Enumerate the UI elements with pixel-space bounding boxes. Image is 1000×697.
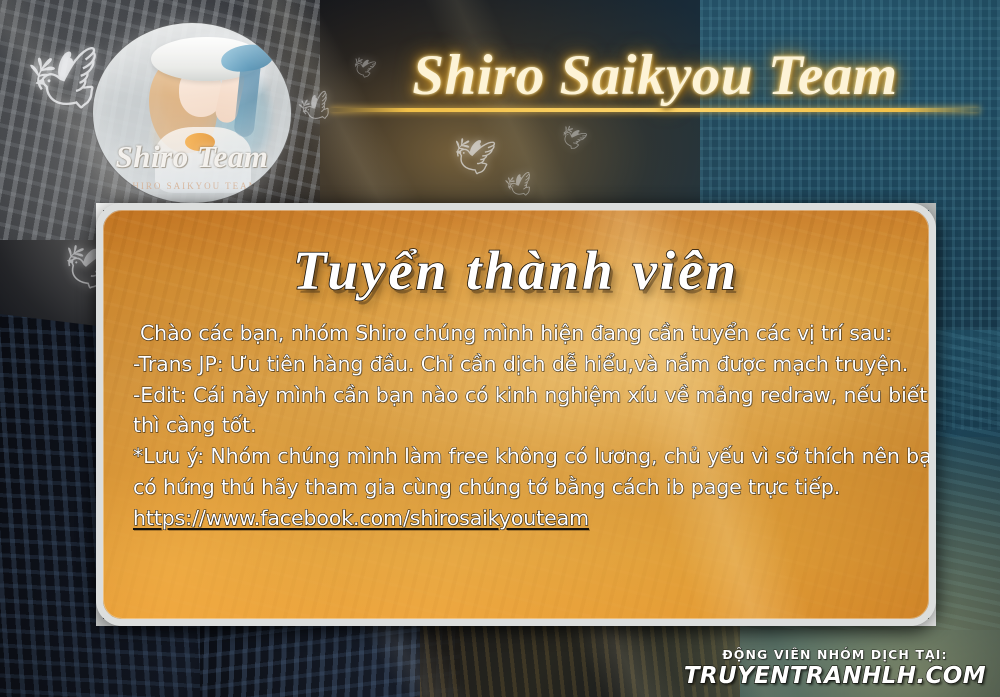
- footer-site-name: TRUYENTRANHLH.COM: [684, 663, 986, 689]
- logo-haze-overlay: [93, 23, 291, 203]
- poster-page: 🕊 🕊 🕊 🕊 🕊 🕊 🕊 Shiro Team SHIRO SAIKYOU T…: [0, 0, 1000, 697]
- panel-body-line: có hứng thú hãy tham gia cùng chúng tớ b…: [133, 472, 899, 503]
- footer-credit: ĐỘNG VIÊN NHÓM DỊCH TẠI: TRUYENTRANHLH.C…: [684, 647, 986, 689]
- panel-body-text: Chào các bạn, nhóm Shiro chúng mình hiện…: [133, 318, 899, 533]
- panel-content: Tuyển thành viên Chào các bạn, nhóm Shir…: [103, 210, 929, 619]
- page-title: Shiro Saikyou Team: [330, 46, 980, 106]
- panel-body-line: *Lưu ý: Nhóm chúng mình làm free không c…: [133, 441, 899, 472]
- logo-subtext: SHIRO SAIKYOU TEAM: [93, 181, 291, 191]
- header: Shiro Saikyou Team: [330, 46, 980, 112]
- logo-wordmark: Shiro Team: [93, 139, 291, 175]
- panel-body-link[interactable]: https://www.facebook.com/shirosaikyoutea…: [133, 503, 899, 534]
- footer-support-label: ĐỘNG VIÊN NHÓM DỊCH TẠI:: [684, 647, 986, 662]
- title-underline-rule: [330, 108, 980, 112]
- team-logo: Shiro Team SHIRO SAIKYOU TEAM: [92, 22, 292, 204]
- panel-body-line: -Trans JP: Ưu tiên hàng đầu. Chỉ cần dịc…: [133, 349, 899, 380]
- panel-body-line: -Edit: Cái này mình cần bạn nào có kinh …: [133, 380, 899, 411]
- panel-heading: Tuyển thành viên: [133, 238, 899, 304]
- panel-body-line: Chào các bạn, nhóm Shiro chúng mình hiện…: [133, 318, 899, 349]
- recruitment-panel: Tuyển thành viên Chào các bạn, nhóm Shir…: [96, 203, 936, 626]
- panel-body-line: thì càng tốt.: [133, 410, 899, 441]
- dove-icon: 🕊: [450, 137, 497, 177]
